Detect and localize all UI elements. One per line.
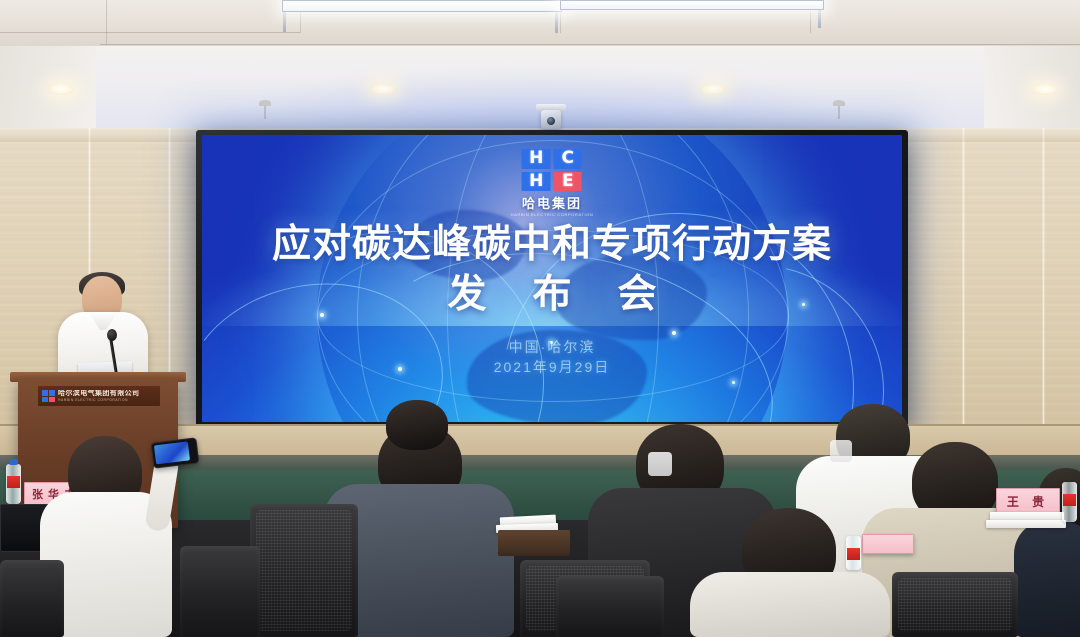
logo-cell-2: C: [554, 149, 583, 169]
podium-nameplate: 哈尔滨电气集团有限公司 HARBIN ELECTRIC CORPORATION: [38, 386, 160, 406]
water-bottle: [6, 464, 21, 504]
recessed-downlight-icon: [1032, 84, 1058, 95]
face-mask: [830, 440, 852, 462]
document-stack: [986, 520, 1066, 528]
chair: [0, 560, 64, 637]
upper-wall: [0, 46, 1080, 128]
bottle-cap: [9, 459, 18, 465]
screen-location: 中国·哈尔滨: [202, 337, 902, 357]
marble-panel-seam: [962, 128, 965, 433]
ceiling-light-troffer: [282, 0, 562, 12]
ceiling-tile-seam: [0, 32, 300, 33]
smartphone[interactable]: [151, 437, 200, 468]
company-logo: H C H E 哈电集团 HARBIN ELECTRIC CORPORATION: [511, 149, 594, 217]
attendee-head: [386, 400, 448, 450]
camera-lens-icon: [547, 117, 555, 125]
logo-cell-1: H: [522, 149, 551, 169]
phone-screen: [154, 441, 190, 464]
wall-mount-bracket: [264, 104, 266, 119]
screen-content: H C H E 哈电集团 HARBIN ELECTRIC CORPORATION…: [202, 135, 902, 422]
recessed-downlight-icon: [370, 84, 396, 95]
podium-company-en: HARBIN ELECTRIC CORPORATION: [58, 398, 156, 403]
screen-title-line1: 应对碳达峰碳中和专项行动方案: [202, 221, 902, 268]
logo-cell-4: E: [554, 172, 583, 192]
led-screen[interactable]: H C H E 哈电集团 HARBIN ELECTRIC CORPORATION…: [202, 135, 902, 422]
screen-title-line2: 发布会: [202, 271, 902, 318]
marble-panel-seam: [1042, 128, 1045, 433]
chair: [892, 572, 1018, 637]
chair: [250, 504, 358, 637]
chair: [556, 576, 664, 637]
chair: [180, 546, 260, 637]
ceiling-tile-seam: [100, 44, 1080, 45]
logo-company-name-en: HARBIN ELECTRIC CORPORATION: [511, 212, 594, 217]
water-bottle: [1062, 482, 1077, 522]
conference-table: [498, 530, 570, 556]
attendee-body: [690, 572, 890, 637]
name-placard-right: 王 贵: [996, 488, 1060, 514]
podium-logo-icon: [42, 390, 55, 402]
microphone-icon: [107, 329, 117, 341]
ceiling-tile-seam: [106, 0, 107, 45]
conference-room-photo: H C H E 哈电集团 HARBIN ELECTRIC CORPORATION…: [0, 0, 1080, 637]
podium-company-cn: 哈尔滨电气集团有限公司: [58, 390, 156, 398]
logo-cell-3: H: [522, 172, 551, 192]
wall-mount-bracket: [838, 104, 840, 119]
logo-company-name-cn: 哈电集团: [511, 193, 594, 212]
water-bottle: [846, 536, 861, 570]
name-placard-secondary: [862, 534, 914, 554]
attendee-body: [1014, 520, 1080, 637]
recessed-downlight-icon: [700, 84, 726, 95]
face-mask: [648, 452, 672, 476]
ceiling-light-troffer: [560, 0, 824, 10]
placard-name: 王 贵: [1007, 493, 1049, 510]
recessed-downlight-icon: [48, 84, 74, 95]
screen-date: 2021年9月29日: [202, 357, 902, 377]
logo-mark-icon: H C H E: [522, 149, 582, 191]
